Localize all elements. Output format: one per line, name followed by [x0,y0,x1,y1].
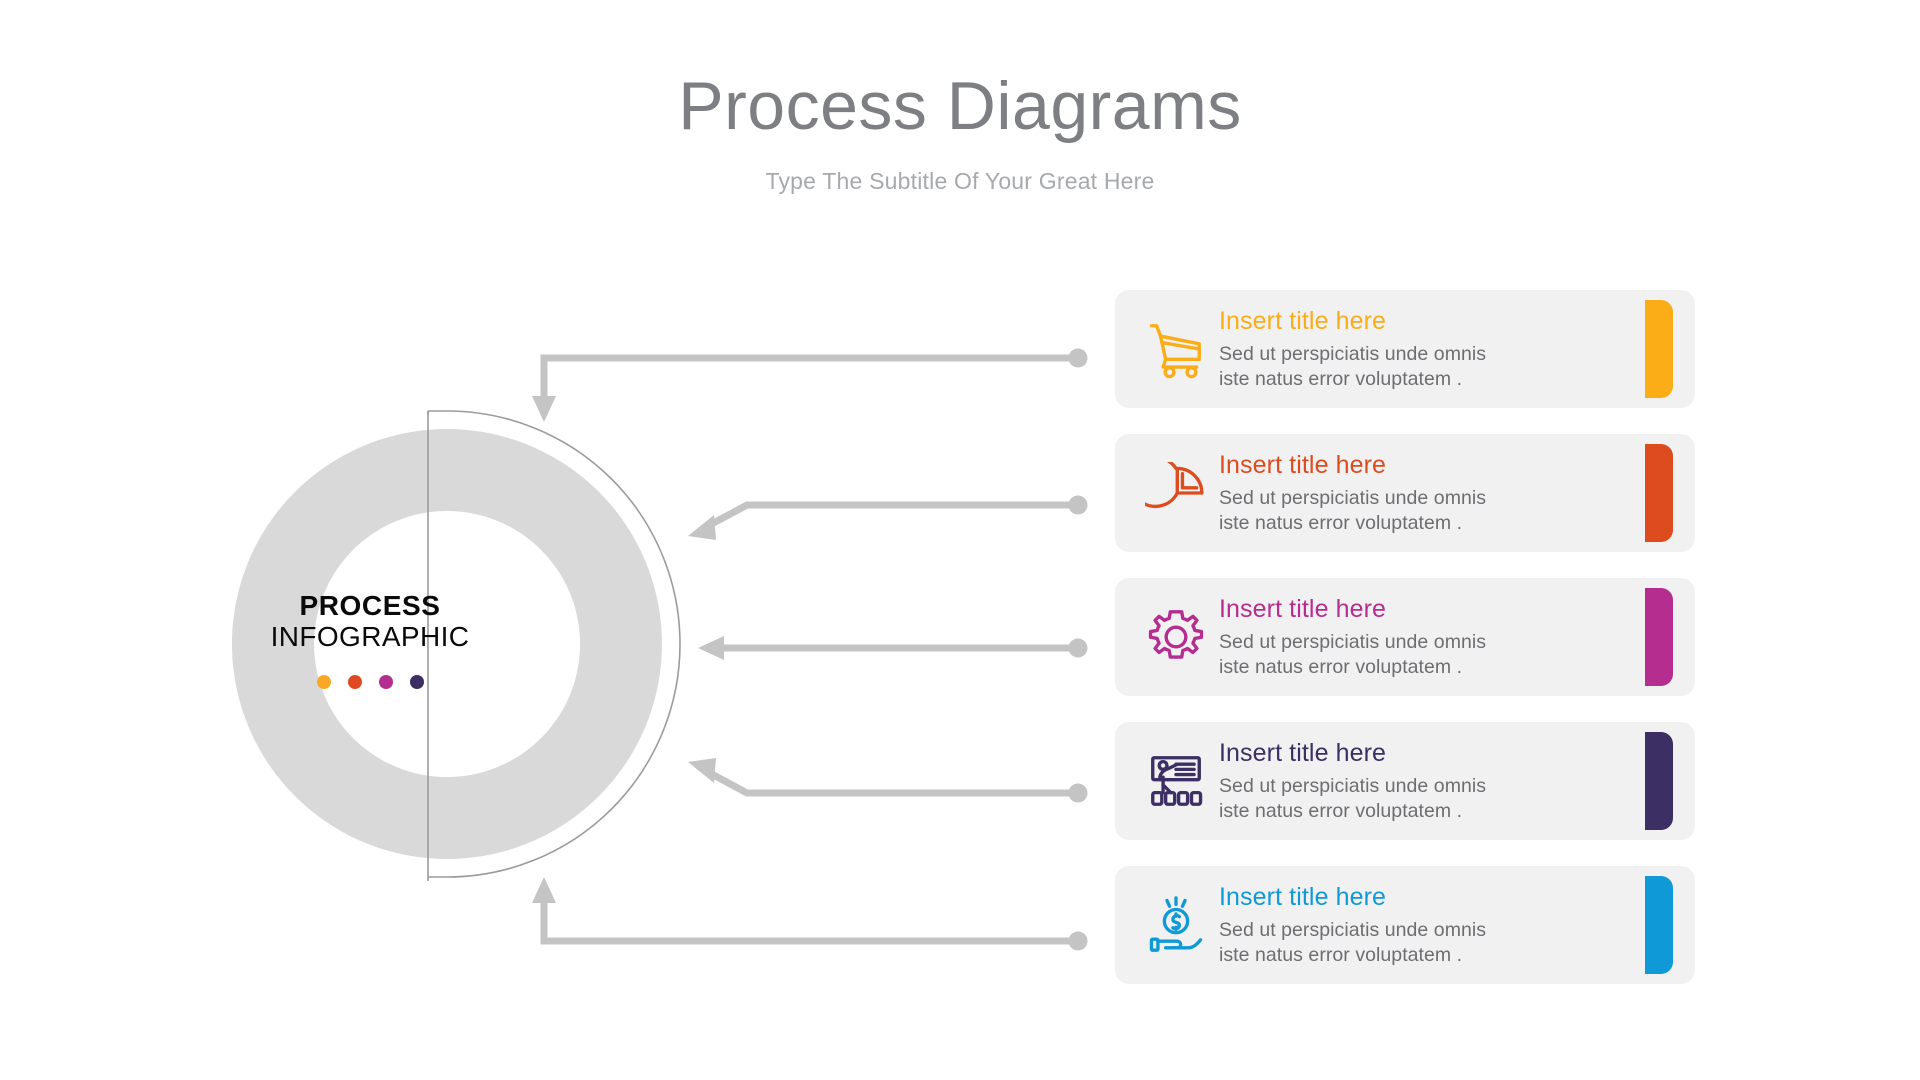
card-3-title: Insert title here [1219,594,1675,625]
connector-3 [698,636,1088,660]
card-5-desc-line1: Sed ut perspiciatis unde omnis [1219,918,1675,943]
card-list: Insert title hereSed ut perspiciatis und… [1115,290,1695,1010]
connector-4 [688,758,1088,803]
card-2-desc-line1: Sed ut perspiciatis unde omnis [1219,486,1675,511]
card-2-body: Insert title hereSed ut perspiciatis und… [1219,450,1695,535]
card-5[interactable]: Insert title hereSed ut perspiciatis und… [1115,866,1695,984]
card-2-title: Insert title here [1219,450,1675,481]
money-in-hand-icon [1115,894,1219,956]
card-4-desc-line2: iste natus error voluptatem . [1219,799,1675,824]
connector-5-dot [1069,932,1088,951]
card-4-title: Insert title here [1219,738,1675,769]
connector-4-dot [1069,784,1088,803]
card-5-desc-line2: iste natus error voluptatem . [1219,943,1675,968]
card-3-body: Insert title hereSed ut perspiciatis und… [1219,594,1695,679]
card-4-body: Insert title hereSed ut perspiciatis und… [1219,738,1695,823]
card-3-desc-line1: Sed ut perspiciatis unde omnis [1219,630,1675,655]
card-3-desc-line2: iste natus error voluptatem . [1219,655,1675,680]
connector-1-dot [1069,349,1088,368]
card-2-accent-bar [1645,444,1673,542]
connector-3-dot [1069,639,1088,658]
card-2[interactable]: Insert title hereSed ut perspiciatis und… [1115,434,1695,552]
connector-5 [532,877,1088,951]
connector-1 [532,349,1088,423]
card-1-accent-bar [1645,300,1673,398]
card-1-body: Insert title hereSed ut perspiciatis und… [1219,306,1695,391]
card-2-desc-line2: iste natus error voluptatem . [1219,511,1675,536]
presentation-icon [1115,750,1219,812]
diagram-svg [0,0,1160,1080]
pie-chart-icon [1115,462,1219,524]
card-4[interactable]: Insert title hereSed ut perspiciatis und… [1115,722,1695,840]
connector-2-dot [1069,496,1088,515]
gear-icon [1115,606,1219,668]
card-1[interactable]: Insert title hereSed ut perspiciatis und… [1115,290,1695,408]
card-4-accent-bar [1645,732,1673,830]
donut-ring [232,429,662,859]
card-3[interactable]: Insert title hereSed ut perspiciatis und… [1115,578,1695,696]
connector-2 [688,496,1088,541]
card-5-title: Insert title here [1219,882,1675,913]
card-3-accent-bar [1645,588,1673,686]
card-1-desc-line2: iste natus error voluptatem . [1219,367,1675,392]
card-1-desc-line1: Sed ut perspiciatis unde omnis [1219,342,1675,367]
process-diagram: PROCESS INFOGRAPHIC [0,0,1160,1080]
shopping-cart-icon [1115,318,1219,380]
card-5-body: Insert title hereSed ut perspiciatis und… [1219,882,1695,967]
card-4-desc-line1: Sed ut perspiciatis unde omnis [1219,774,1675,799]
card-5-accent-bar [1645,876,1673,974]
card-1-title: Insert title here [1219,306,1675,337]
